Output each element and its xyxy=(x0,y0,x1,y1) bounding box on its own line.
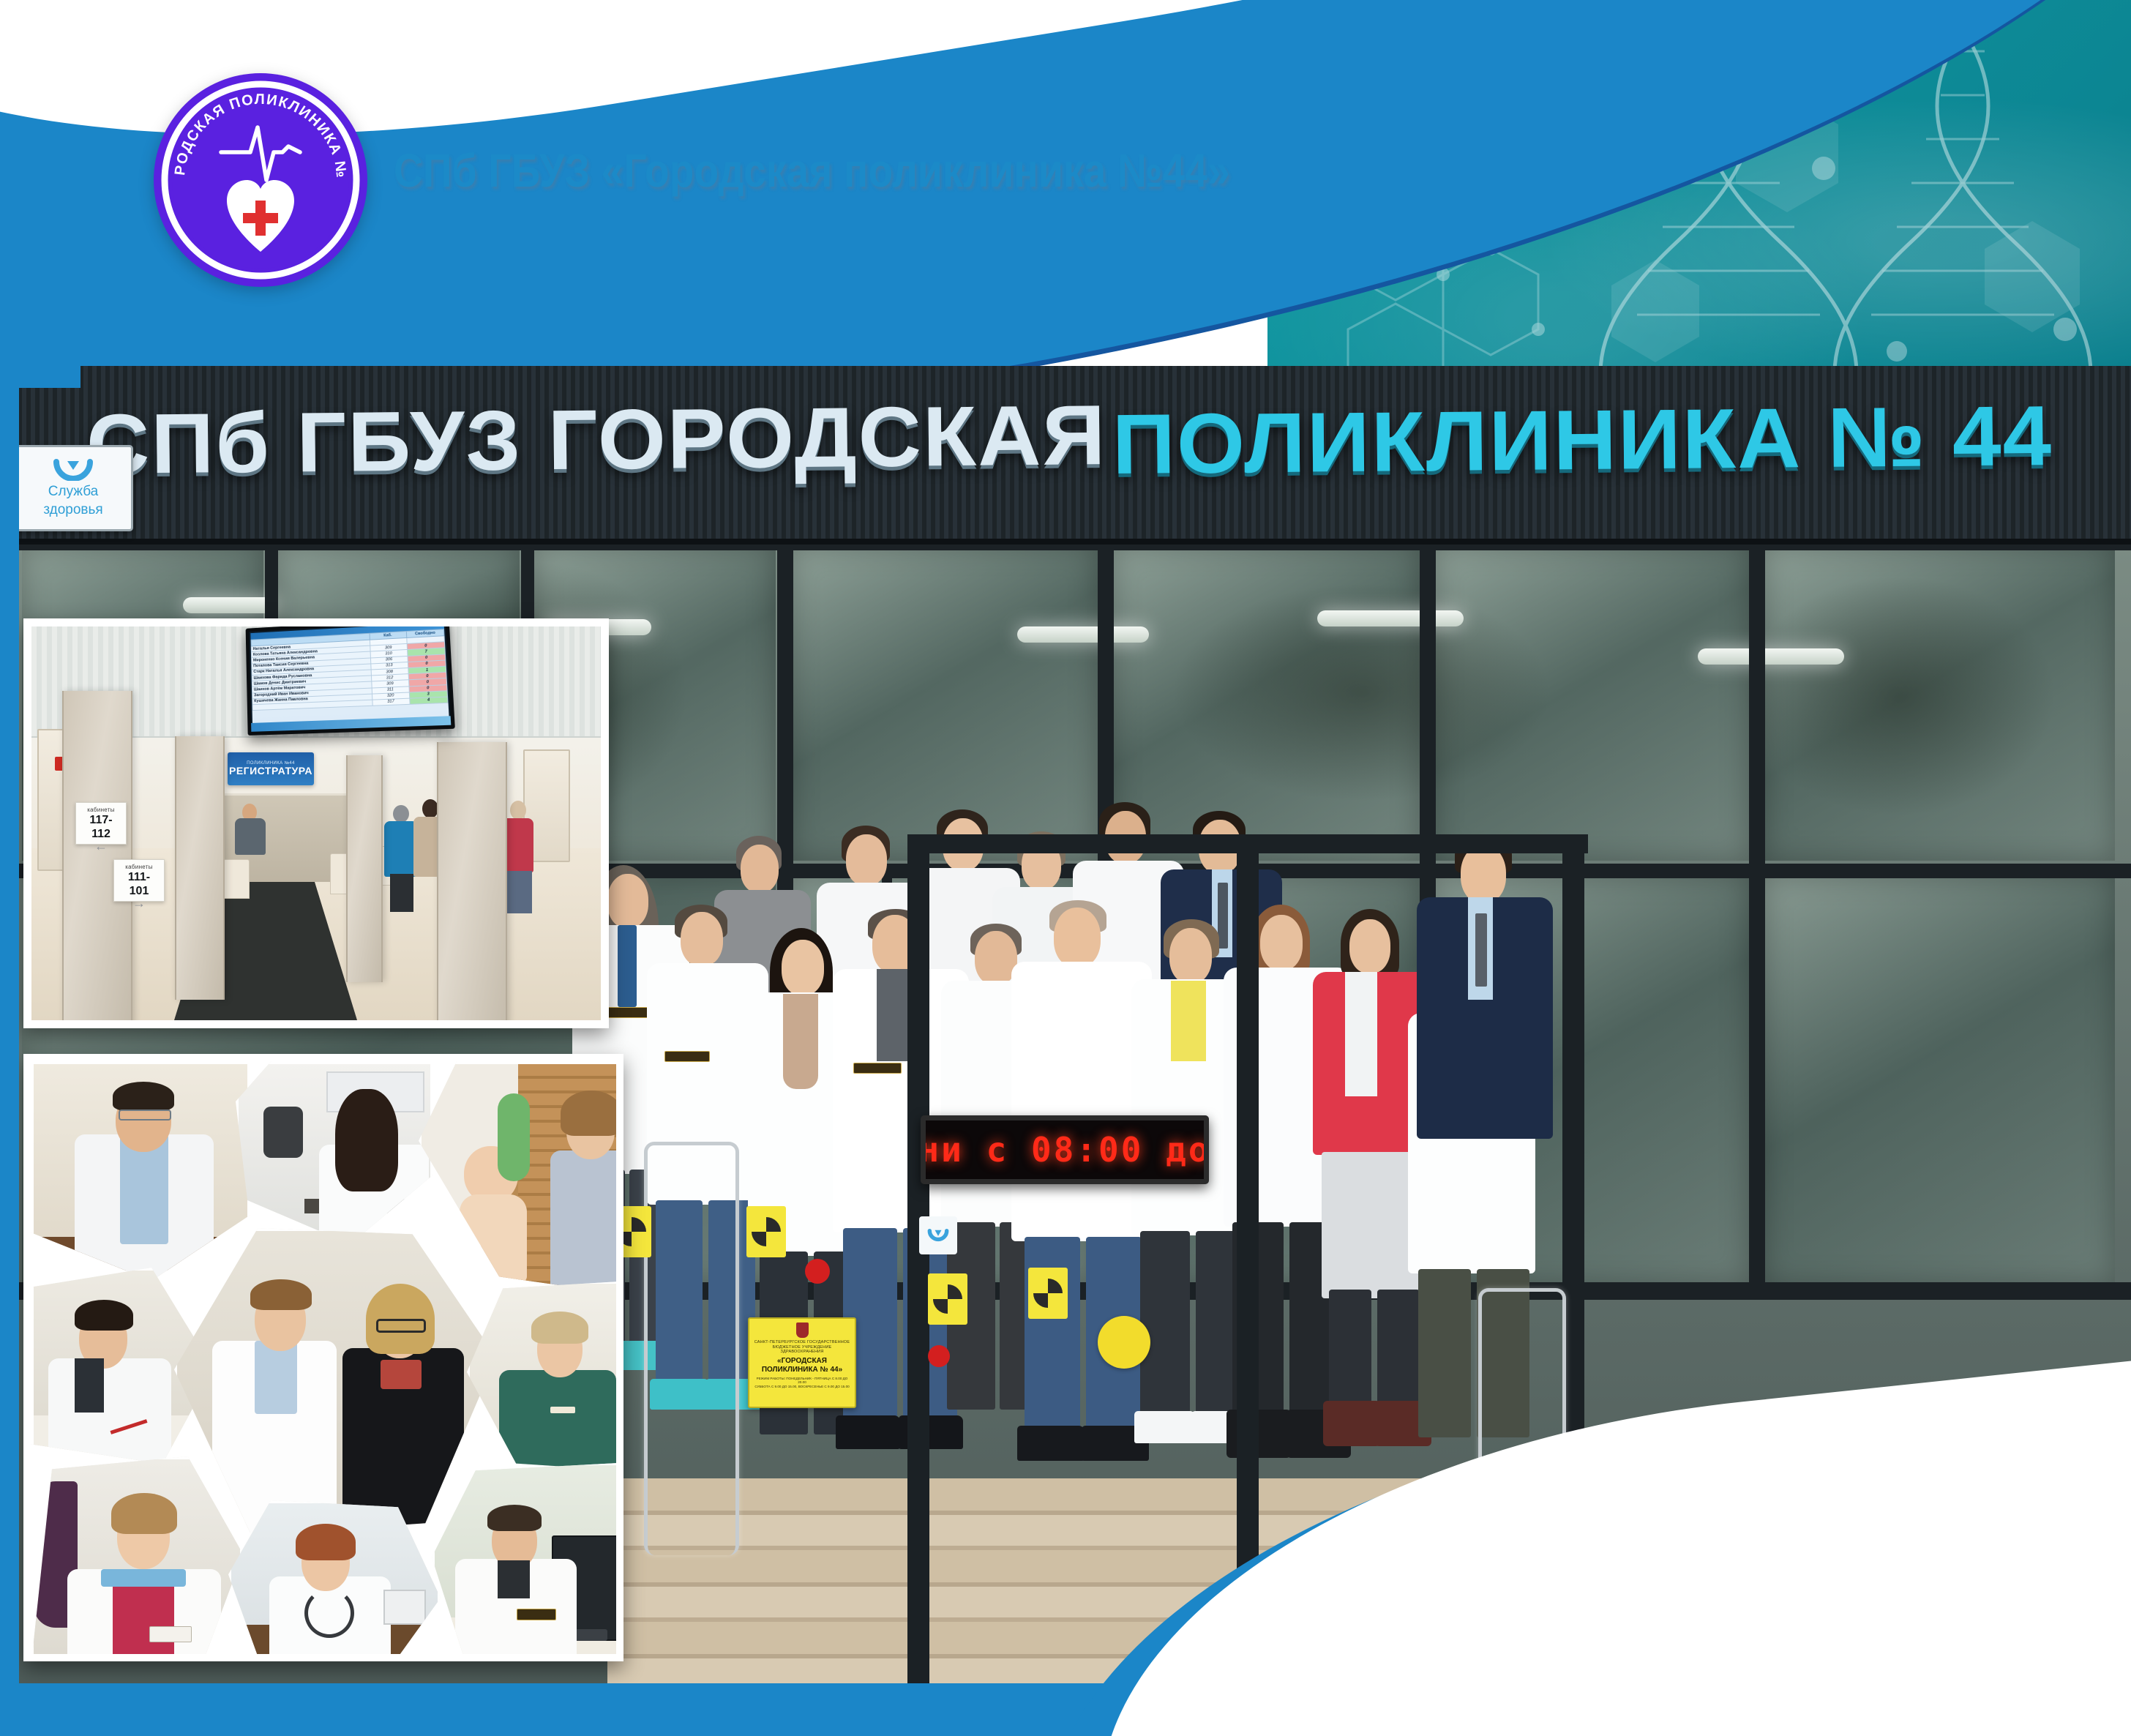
hall-pillar-right xyxy=(437,742,507,1028)
call-button-red-1[interactable] xyxy=(805,1259,830,1284)
health-service-badge: Служба здоровья xyxy=(13,445,133,531)
rooms-sign-111-101: кабинеты 111-101 → xyxy=(113,859,165,902)
registry-sign: ПОЛИКЛИНИКА №44 РЕГИСТРАТУРА xyxy=(228,752,314,785)
handrail-left xyxy=(644,1142,739,1555)
collage-cell-senior-doctor-female xyxy=(31,1456,243,1661)
collage-cell-nurse-green-scrubs xyxy=(467,1281,623,1471)
visually-impaired-marker-4 xyxy=(1028,1268,1068,1319)
registry-sign-main: РЕГИСТРАТУРА xyxy=(229,766,312,777)
collage-cell-chief-doctor-and-colleague xyxy=(174,1228,496,1535)
left-blue-band-top xyxy=(0,366,80,388)
collage-cell-doctor-male-glasses-office xyxy=(31,1061,250,1281)
led-schedule-display: ни с 08:00 до xyxy=(921,1115,1209,1184)
rooms-sign-right-numbers: 111-101 xyxy=(119,870,159,898)
staff-collage xyxy=(23,1054,623,1661)
arrow-right-icon: → xyxy=(119,898,159,908)
header-band: ГОРОДСКАЯ ПОЛИКЛИНИКА №44 СПб ГБУЗ «Горо… xyxy=(0,0,2131,388)
rooms-sign-left-numbers: 117-112 xyxy=(81,813,121,841)
queue-display-board: Каб. Свободно Наталья СергеевнаКозлова Т… xyxy=(246,618,455,736)
entrance-info-plaque: САНКТ-ПЕТЕРБУРГСКОЕ ГОСУДАРСТВЕННОЕ БЮДЖ… xyxy=(748,1317,856,1408)
rooms-sign-117-112: кабинеты 117-112 ← xyxy=(75,802,127,845)
collage-cell-nurse-with-baby xyxy=(419,1061,623,1295)
plaque-name-line1: «ГОРОДСКАЯ xyxy=(777,1357,827,1366)
hall-pillar-mid-left xyxy=(175,736,225,1000)
page-title: СПб ГБУЗ «Городская поликлиника №44» xyxy=(394,143,1230,198)
left-blue-band xyxy=(0,366,19,1736)
plaque-name-line2: ПОЛИКЛИНИКА № 44» xyxy=(762,1366,842,1374)
door-yellow-circle-1 xyxy=(1098,1316,1150,1369)
heart-sticker-icon xyxy=(919,1216,957,1254)
waiting-chair-1 xyxy=(223,859,250,899)
visually-impaired-marker-2 xyxy=(746,1206,786,1257)
building-sign-cyan: ПОЛИКЛИНИКА № 44 xyxy=(1112,386,2053,493)
health-badge-line2: здоровья xyxy=(43,502,102,517)
smile-arc-icon xyxy=(53,459,94,481)
arrow-left-icon: ← xyxy=(81,841,121,851)
queue-row-room: 317 xyxy=(372,698,410,706)
clinic-logo-icon: ГОРОДСКАЯ ПОЛИКЛИНИКА №44 xyxy=(151,70,370,290)
red-cross-icon-h xyxy=(243,213,278,223)
plaque-hours-line2: СУББОТА С 9.00 ДО 15.00, ВОСКРЕСЕНЬЕ С 9… xyxy=(754,1385,849,1389)
plaque-hours-line1: РЕЖИМ РАБОТЫ: ПОНЕДЕЛЬНИК - ПЯТНИЦА С 8.… xyxy=(754,1377,850,1385)
collage-cell-doctor-at-computer xyxy=(432,1462,623,1661)
health-badge-line1: Служба xyxy=(48,484,98,499)
poster-root: ГОРОДСКАЯ ПОЛИКЛИНИКА №44 СПб ГБУЗ «Горо… xyxy=(0,0,2131,1736)
building-fascia: СПб ГБУЗ ГОРОДСКАЯ ПОЛИКЛИНИКА № 44 xyxy=(0,366,2131,545)
hall-pillar-mid xyxy=(346,755,383,982)
clinic-logo: ГОРОДСКАЯ ПОЛИКЛИНИКА №44 xyxy=(151,70,370,290)
blue-smile-icon xyxy=(925,1222,951,1249)
visually-impaired-marker-3 xyxy=(928,1273,967,1325)
led-schedule-text: ни с 08:00 до xyxy=(921,1130,1209,1170)
collage-cell-doctor-with-stethoscope xyxy=(228,1500,441,1661)
plaque-org-line2: БЮДЖЕТНОЕ УЧРЕЖДЕНИЕ ЗДРАВООХРАНЕНИЯ xyxy=(754,1345,850,1355)
building-sign-white: СПб ГБУЗ ГОРОДСКАЯ xyxy=(86,386,1107,493)
queue-table: Каб. Свободно Наталья СергеевнаКозлова Т… xyxy=(251,629,449,711)
call-button-red-2[interactable] xyxy=(928,1345,950,1367)
queue-row-free: 4 xyxy=(410,697,448,704)
collage-cell-doctor-female-lab xyxy=(236,1061,433,1244)
rooms-sign-right-word: кабинеты xyxy=(119,864,159,870)
queue-table-body: Наталья СергеевнаКозлова Татьяна Алексан… xyxy=(251,636,448,711)
spb-crest-icon xyxy=(796,1322,809,1338)
rooms-sign-left-word: кабинеты xyxy=(81,807,121,813)
reception-hall-inset-photo: ПОЛИКЛИНИКА №44 РЕГИСТРАТУРА xyxy=(23,618,609,1028)
